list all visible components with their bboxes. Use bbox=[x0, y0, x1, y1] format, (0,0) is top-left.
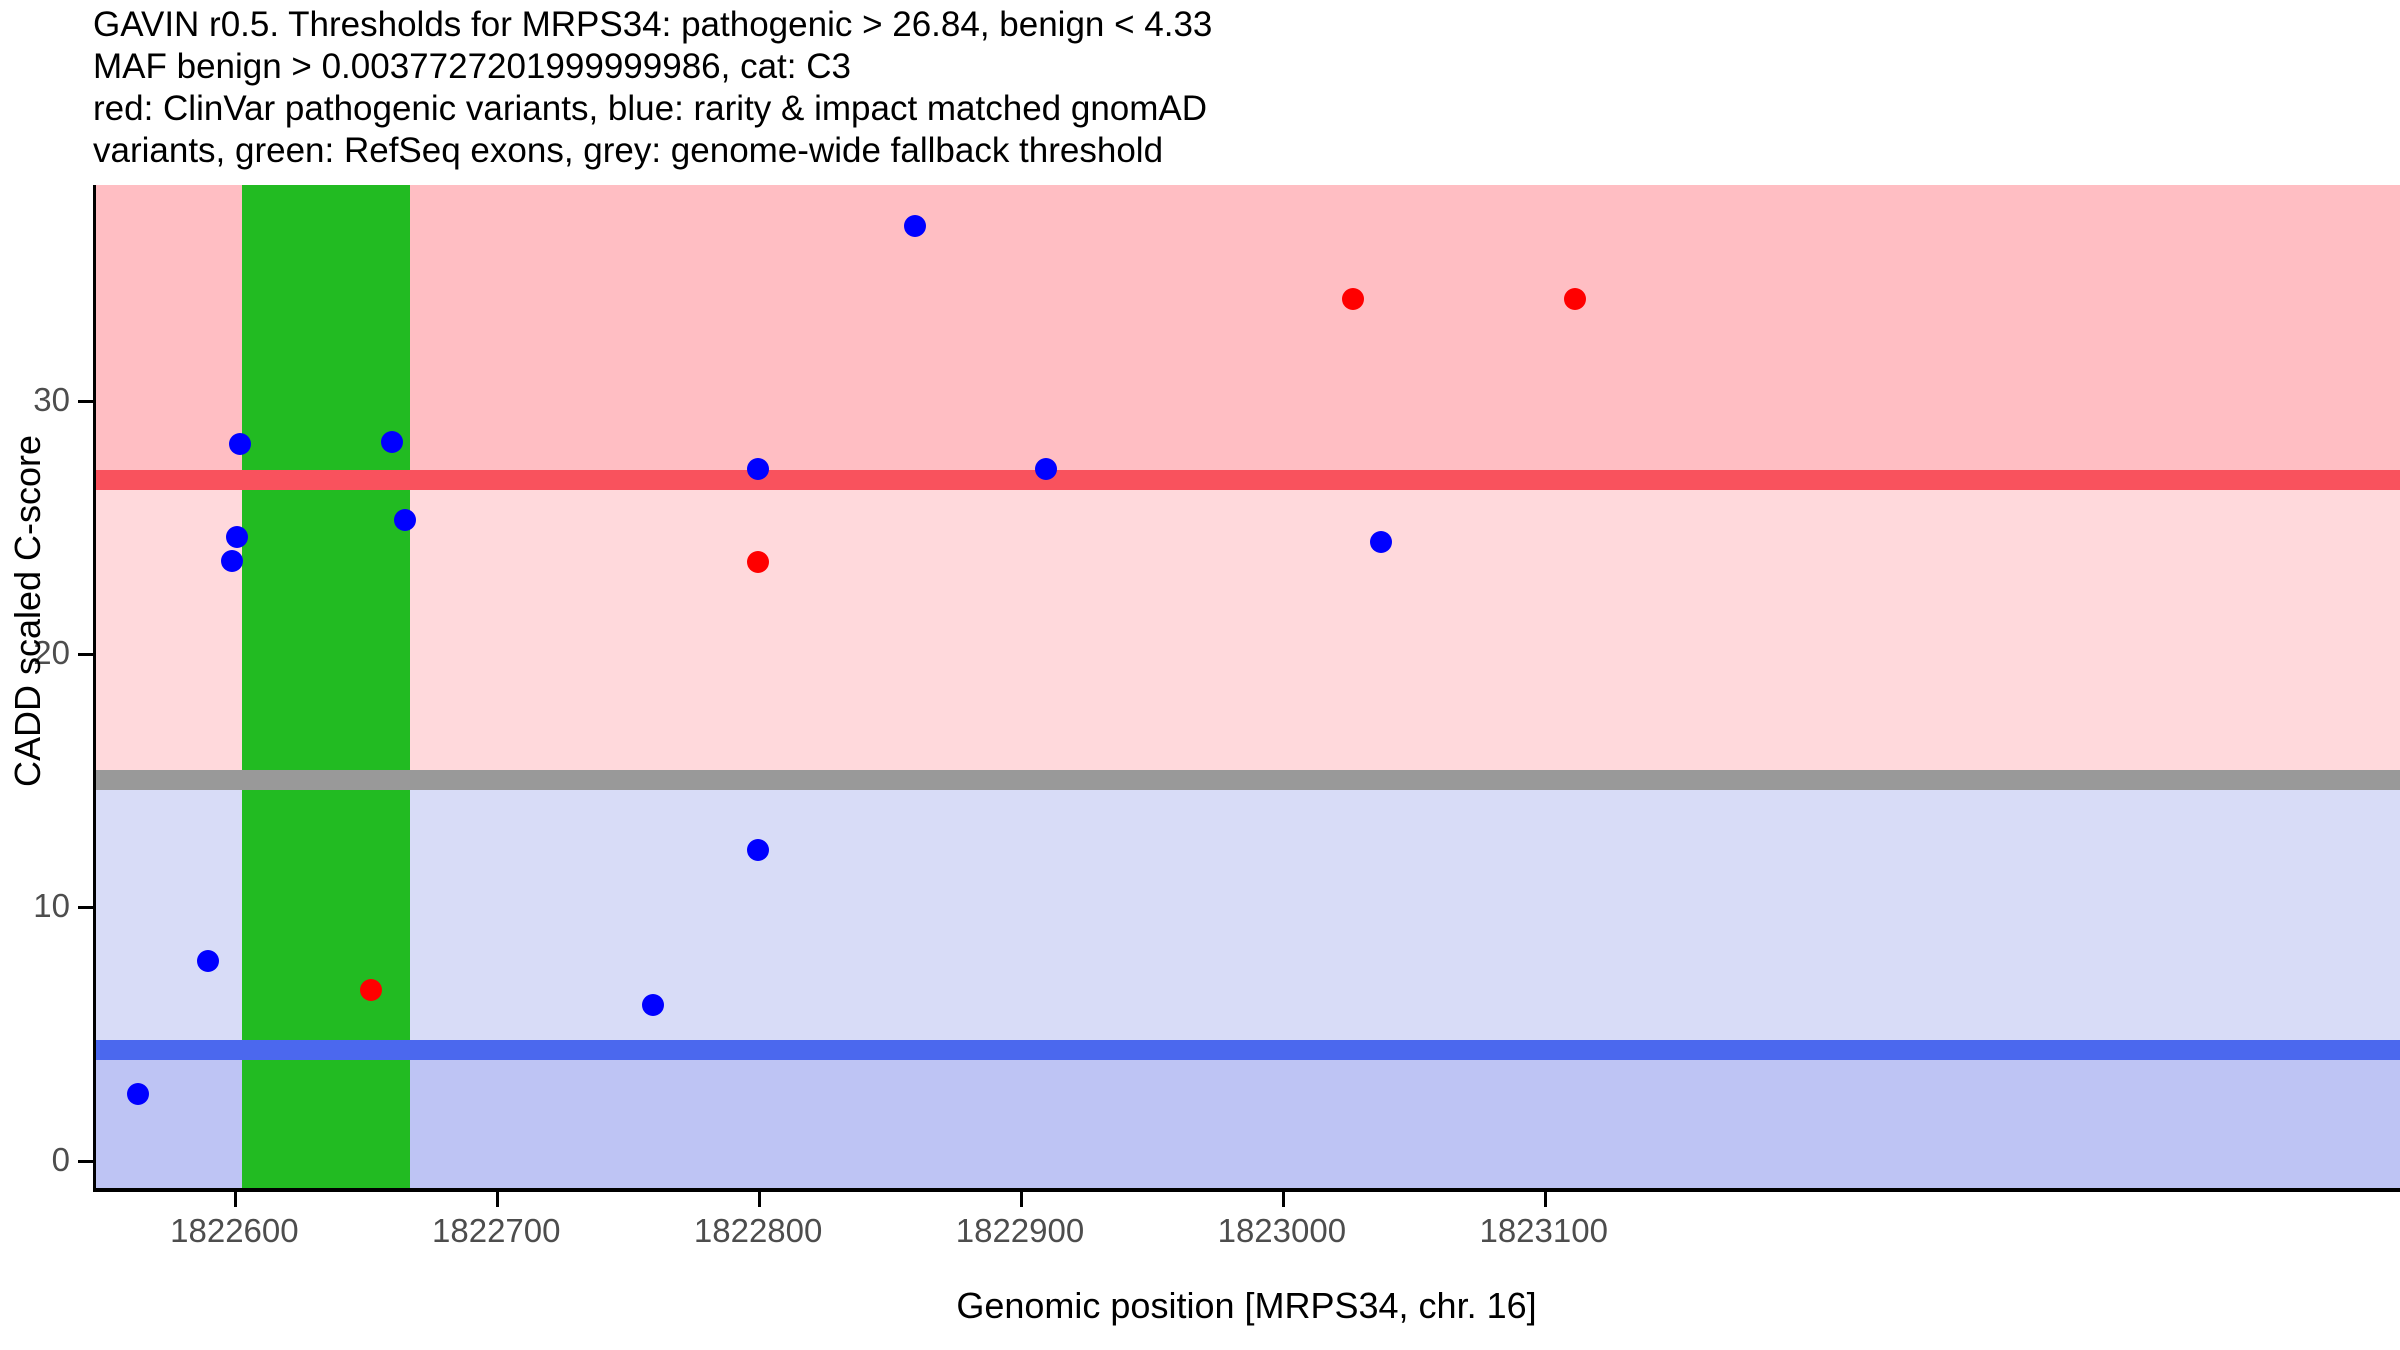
data-point bbox=[127, 1083, 149, 1105]
data-point bbox=[197, 950, 219, 972]
x-tick-mark bbox=[234, 1192, 237, 1207]
x-axis-line bbox=[93, 1188, 2400, 1192]
data-point bbox=[1342, 288, 1364, 310]
y-tick-mark bbox=[78, 653, 94, 656]
title-line-2: MAF benign > 0.0037727201999999986, cat:… bbox=[93, 46, 2393, 88]
y-axis-title: CADD scaled C-score bbox=[7, 261, 49, 961]
y-axis-line bbox=[93, 185, 96, 1190]
data-point bbox=[360, 979, 382, 1001]
chart-title: GAVIN r0.5. Thresholds for MRPS34: patho… bbox=[93, 4, 2393, 172]
x-tick-mark bbox=[496, 1192, 499, 1207]
data-point bbox=[1035, 458, 1057, 480]
x-tick-label: 1822900 bbox=[956, 1212, 1084, 1250]
x-tick-mark bbox=[1544, 1192, 1547, 1207]
x-tick-label: 1822600 bbox=[170, 1212, 298, 1250]
y-tick-label: 0 bbox=[10, 1141, 70, 1179]
x-tick-label: 1823100 bbox=[1479, 1212, 1607, 1250]
data-point bbox=[904, 215, 926, 237]
title-line-4: variants, green: RefSeq exons, grey: gen… bbox=[93, 130, 2393, 172]
pathogenic-band bbox=[93, 185, 2400, 480]
y-tick-mark bbox=[78, 1160, 94, 1163]
x-axis-title: Genomic position [MRPS34, chr. 16] bbox=[93, 1285, 2400, 1327]
data-point bbox=[747, 458, 769, 480]
fallback-threshold-line bbox=[93, 770, 2400, 790]
data-point bbox=[1564, 288, 1586, 310]
ambiguous-benign-band bbox=[93, 780, 2400, 1050]
data-point bbox=[394, 509, 416, 531]
chart-root: GAVIN r0.5. Thresholds for MRPS34: patho… bbox=[0, 0, 2400, 1350]
title-line-3: red: ClinVar pathogenic variants, blue: … bbox=[93, 88, 2393, 130]
data-point bbox=[226, 526, 248, 548]
plot-panel bbox=[93, 185, 2400, 1190]
data-point bbox=[229, 433, 251, 455]
x-tick-label: 1822700 bbox=[432, 1212, 560, 1250]
data-point bbox=[221, 550, 243, 572]
benign-threshold-line bbox=[93, 1040, 2400, 1060]
title-line-1: GAVIN r0.5. Thresholds for MRPS34: patho… bbox=[93, 4, 2393, 46]
x-tick-mark bbox=[1282, 1192, 1285, 1207]
data-point bbox=[747, 839, 769, 861]
x-tick-mark bbox=[1020, 1192, 1023, 1207]
y-tick-mark bbox=[78, 400, 94, 403]
data-point bbox=[381, 431, 403, 453]
pathogenic-threshold-line bbox=[93, 470, 2400, 490]
benign-band bbox=[93, 1050, 2400, 1190]
x-tick-label: 1822800 bbox=[694, 1212, 822, 1250]
x-tick-mark bbox=[758, 1192, 761, 1207]
x-tick-label: 1823000 bbox=[1218, 1212, 1346, 1250]
vus-band bbox=[93, 480, 2400, 780]
y-tick-mark bbox=[78, 906, 94, 909]
